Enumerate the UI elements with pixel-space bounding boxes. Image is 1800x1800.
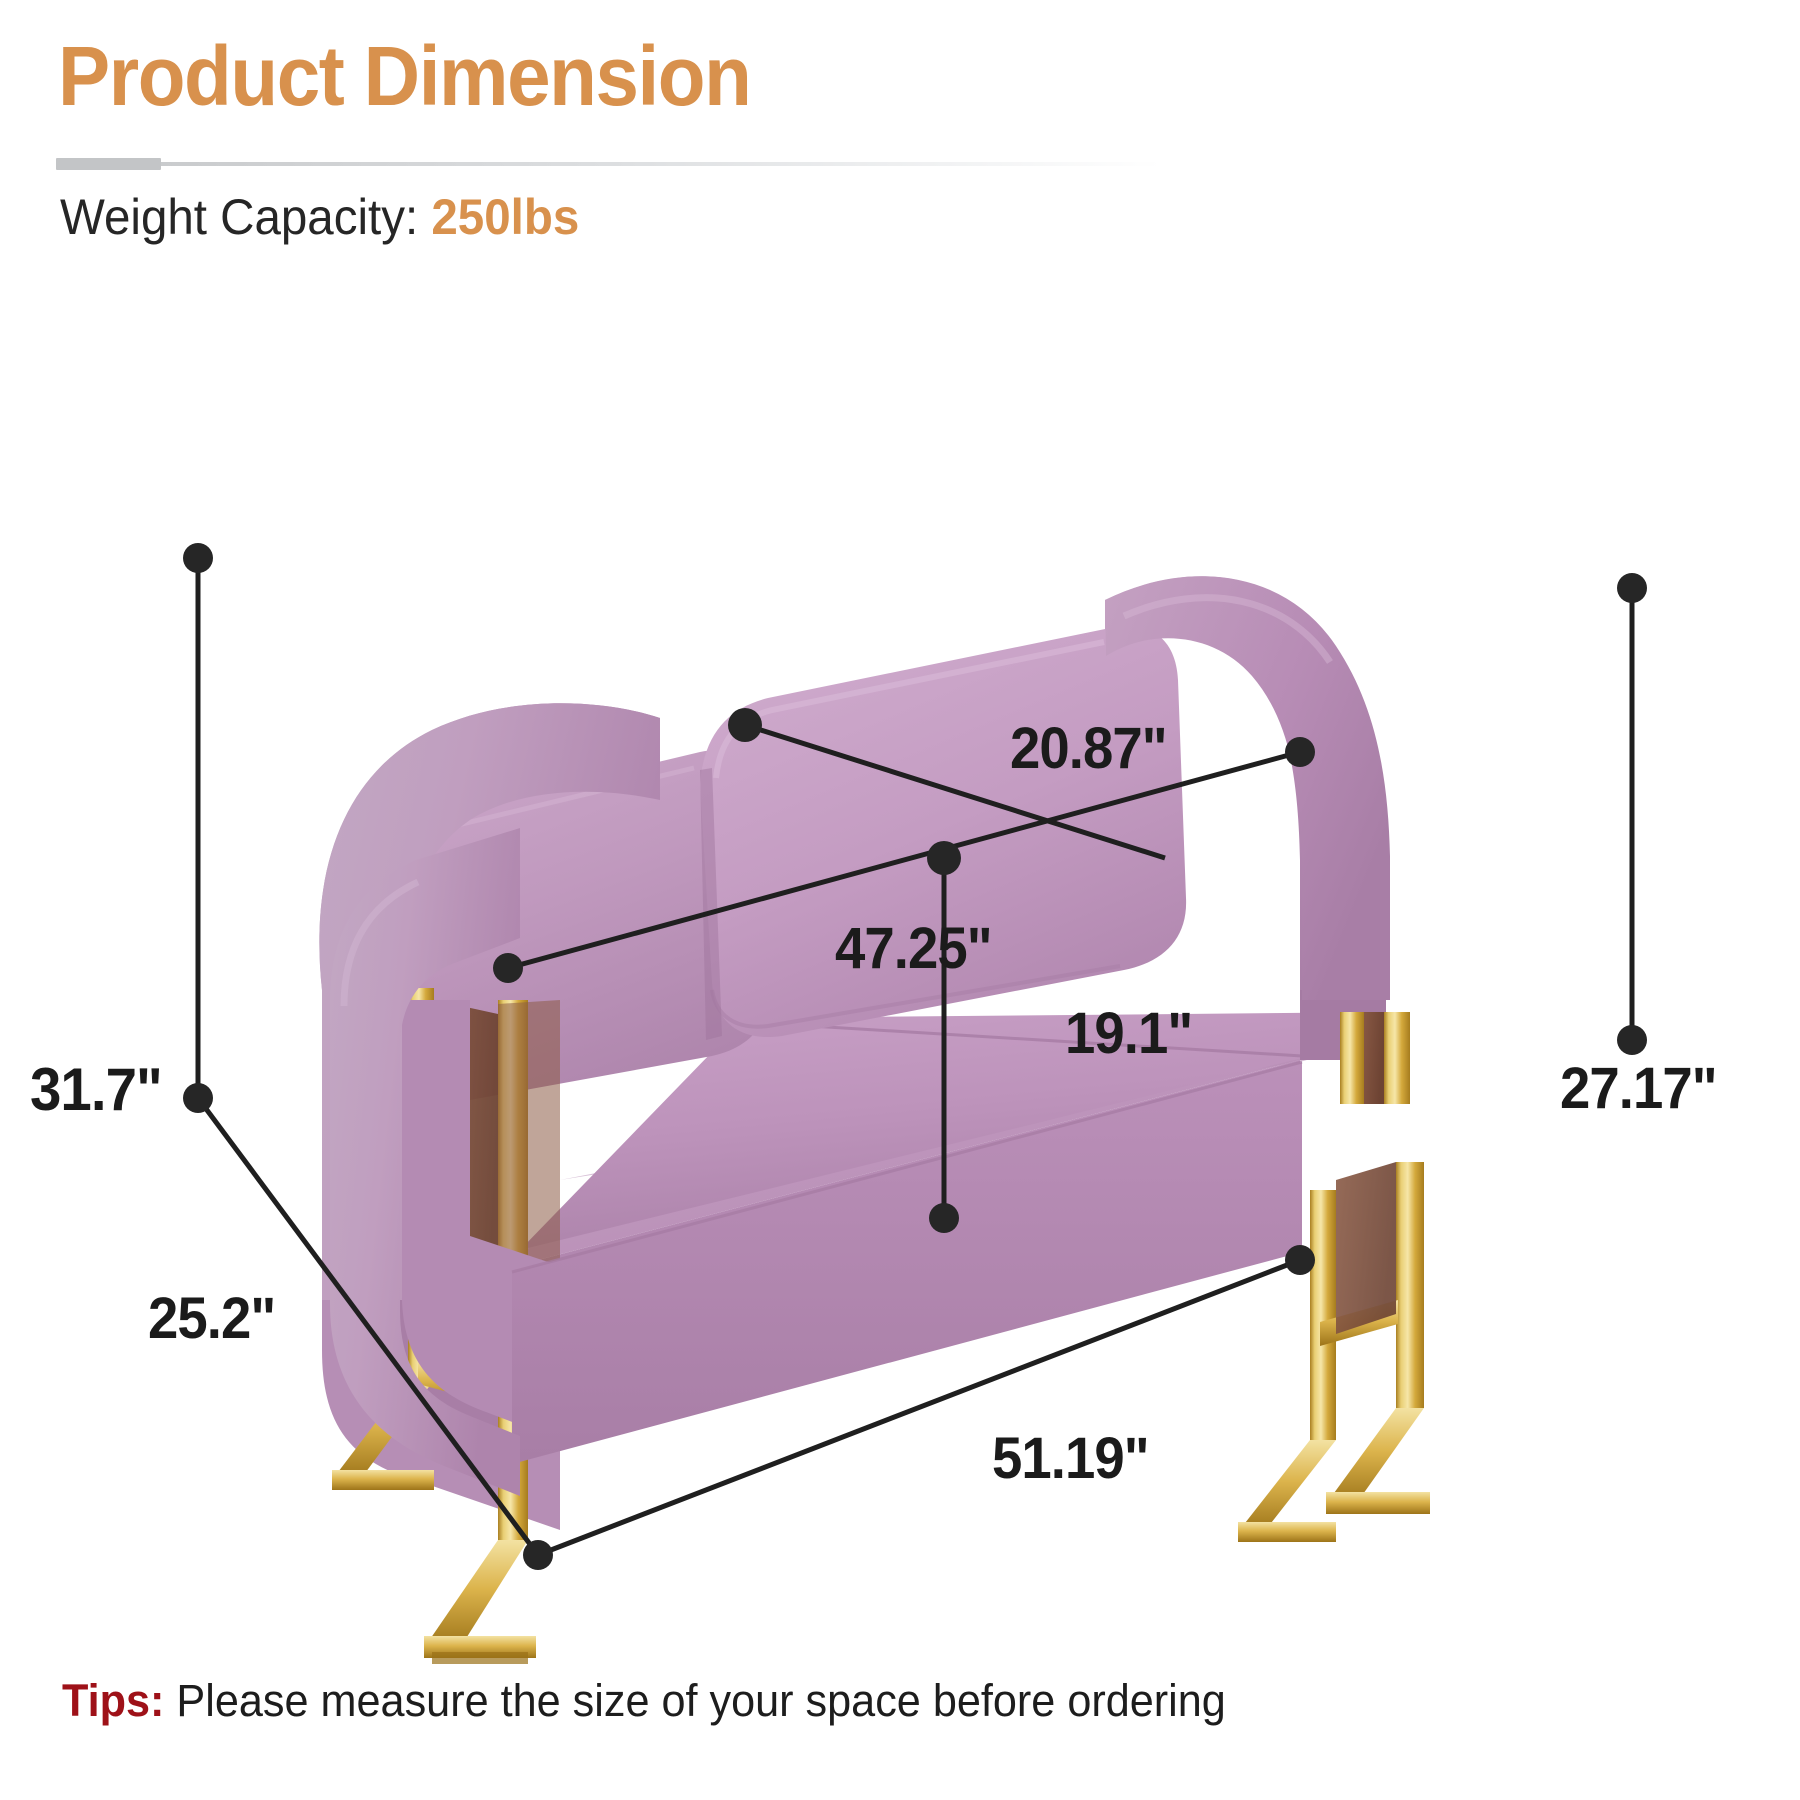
title-divider (56, 158, 1161, 170)
gold-bracket-right (1340, 1012, 1410, 1104)
dim-label-seat-width: 47.25" (835, 915, 992, 982)
divider-thin-segment (161, 162, 1161, 166)
weight-capacity-value: 250lbs (431, 189, 579, 245)
header-block: Product Dimension Weight Capacity: 250lb… (0, 0, 1800, 260)
dim-label-seat-height: 19.1" (1065, 1000, 1192, 1067)
divider-thick-segment (56, 158, 161, 170)
leg-inner-shadow-right (1336, 1162, 1396, 1334)
weight-capacity-line: Weight Capacity: 250lbs (60, 186, 579, 248)
tips-lead: Tips: (62, 1675, 164, 1726)
weight-capacity-label: Weight Capacity: (60, 189, 418, 245)
dim-label-back-height: 27.17" (1560, 1055, 1717, 1122)
sofa-drawing (0, 300, 1800, 1680)
dim-label-overall-depth: 25.2" (148, 1285, 275, 1352)
product-illustration: 31.7" 20.87" 47.25" 19.1" 25.2" 51.19" 2… (0, 300, 1800, 1680)
dim-label-overall-height: 31.7" (30, 1055, 162, 1124)
tips-text: Please measure the size of your space be… (176, 1675, 1225, 1726)
dim-label-overall-width: 51.19" (992, 1425, 1149, 1492)
page-title: Product Dimension (58, 28, 750, 124)
dim-label-seat-depth: 20.87" (1010, 715, 1167, 782)
tips-block: Tips: Please measure the size of your sp… (62, 1672, 1226, 1730)
